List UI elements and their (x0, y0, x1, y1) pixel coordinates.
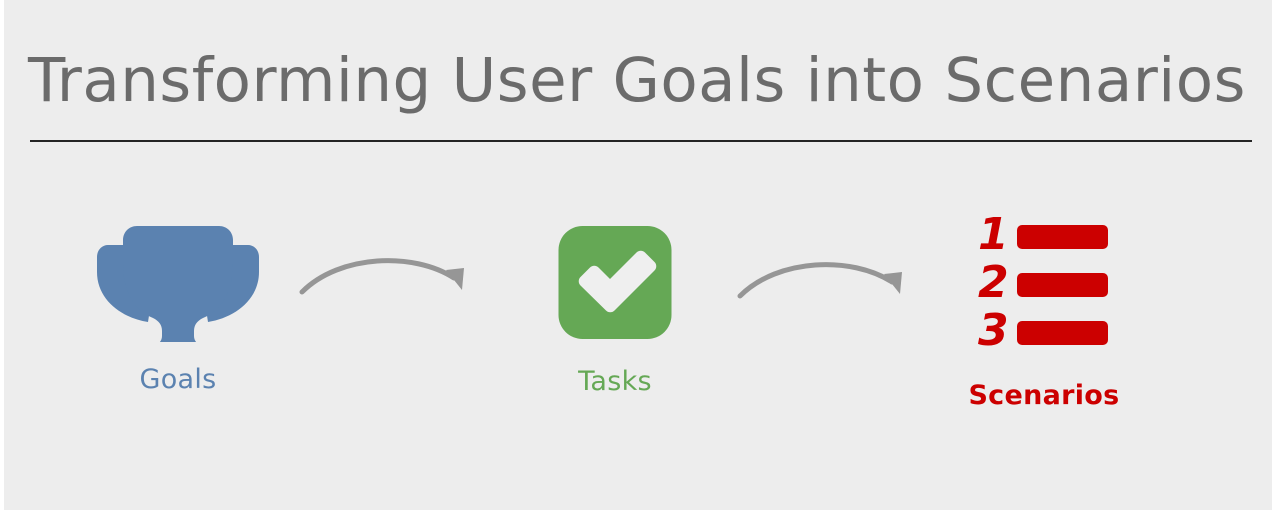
flow-node-tasks-label: Tasks (515, 366, 715, 397)
list-bar-3 (1017, 321, 1108, 345)
list-number-1: 1 (978, 212, 1009, 260)
curved-arrow-right-icon-2 (734, 252, 914, 316)
title-divider (30, 140, 1252, 142)
flow-node-tasks: Tasks (515, 222, 715, 397)
flow-node-scenarios-label: Scenarios (944, 380, 1144, 411)
page-title: Transforming User Goals into Scenarios (28, 45, 1246, 116)
slide-root: Transforming User Goals into Scenarios G… (0, 0, 1278, 513)
flow-node-goals: Goals (78, 222, 278, 395)
flow-node-goals-label: Goals (78, 364, 278, 395)
curved-arrow-right-icon-1 (296, 248, 476, 312)
numbered-list-icon: 1 2 3 (944, 212, 1144, 356)
list-number-3: 3 (978, 305, 1009, 352)
flow-node-scenarios: 1 2 3 Scenarios (944, 212, 1144, 411)
list-bar-2 (1017, 273, 1108, 297)
trophy-icon (78, 222, 278, 346)
slide-canvas: Transforming User Goals into Scenarios G… (4, 0, 1272, 510)
list-bar-1 (1017, 225, 1108, 249)
checkmark-square-icon (515, 222, 715, 344)
list-number-2: 2 (978, 257, 1009, 308)
